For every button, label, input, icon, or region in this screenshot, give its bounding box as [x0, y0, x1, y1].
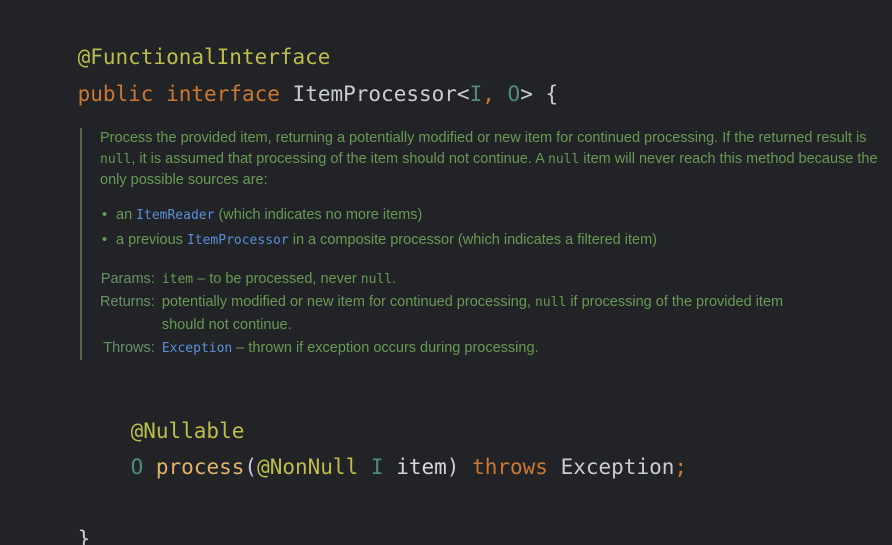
param-text-before-null: to be processed, never [209, 271, 361, 287]
type-name-itemprocessor[interactable]: ItemProcessor [293, 82, 457, 106]
angle-bracket-close-icon: > [520, 82, 533, 106]
space-3 [495, 82, 508, 106]
null-literal-2: null [548, 152, 579, 167]
method-name-process[interactable]: process [156, 455, 245, 479]
space-1 [143, 455, 156, 479]
method-signature-line: O process(@NonNull I item) throws Except… [80, 428, 687, 506]
tag-label-params: Params: [100, 268, 162, 291]
exception-type[interactable]: Exception [561, 455, 675, 479]
tag-value-returns: potentially modified or new item for con… [162, 291, 822, 337]
source-suffix: in a composite processor (which indicate… [289, 232, 657, 248]
param-text-after-null: . [392, 271, 396, 287]
list-item: •a previous ItemProcessor in a composite… [100, 230, 880, 252]
returns-text-before-null: potentially modified or new item for con… [162, 294, 535, 310]
list-item: •an ItemReader (which indicates no more … [100, 205, 880, 227]
throws-text: thrown if exception occurs during proces… [248, 340, 538, 356]
type-parameter-out: O [508, 82, 521, 106]
source-suffix: (which indicates no more items) [214, 207, 422, 223]
paren-open: ( [244, 455, 257, 479]
annotation-nonnull: @NonNull [257, 455, 358, 479]
type-parameter-in: I [470, 82, 483, 106]
table-row: Returns: potentially modified or new ite… [100, 291, 822, 337]
description-part-1: Process the provided item, returning a p… [100, 130, 866, 146]
parameter-name: item [396, 455, 447, 479]
javadoc-link-exception[interactable]: Exception [162, 341, 232, 356]
param-name: item [162, 272, 193, 287]
tag-label-returns: Returns: [100, 291, 162, 337]
javadoc-link-itemreader[interactable]: ItemReader [136, 208, 214, 223]
tag-label-throws: Throws: [100, 337, 162, 360]
returns-null-literal: null [535, 295, 566, 310]
description-part-2: , it is assumed that processing of the i… [131, 151, 548, 167]
space-2 [280, 82, 293, 106]
javadoc-tooltip: Process the provided item, returning a p… [80, 128, 880, 360]
brace-open: { [546, 82, 559, 106]
table-row: Throws: Exception – thrown if exception … [100, 337, 822, 360]
tag-value-params: item – to be processed, never null. [162, 268, 822, 291]
paren-close: ) [447, 455, 460, 479]
tag-value-throws: Exception – thrown if exception occurs d… [162, 337, 822, 360]
javadoc-sources-list: •an ItemReader (which indicates no more … [100, 205, 880, 252]
interface-declaration-line: public interface ItemProcessor<I, O> { [27, 55, 558, 133]
throws-dash: – [232, 340, 248, 356]
keyword-interface: interface [166, 82, 280, 106]
null-literal-1: null [100, 152, 131, 167]
method-return-type: O [131, 455, 144, 479]
comma-separator: , [482, 82, 495, 106]
space-4 [533, 82, 546, 106]
space-2 [358, 455, 371, 479]
param-dash: – [193, 271, 209, 287]
brace-close: } [78, 527, 91, 545]
table-row: Params: item – to be processed, never nu… [100, 268, 822, 291]
javadoc-link-itemprocessor[interactable]: ItemProcessor [187, 233, 289, 248]
space-5 [548, 455, 561, 479]
param-null-literal: null [361, 272, 392, 287]
code-editor-viewport: @FunctionalInterface public interface It… [0, 0, 892, 545]
space-4 [459, 455, 472, 479]
keyword-public: public [78, 82, 154, 106]
keyword-throws: throws [472, 455, 548, 479]
parameter-type: I [371, 455, 384, 479]
space-3 [384, 455, 397, 479]
source-prefix: an [116, 207, 136, 223]
source-prefix: a previous [116, 232, 187, 248]
javadoc-tags-table: Params: item – to be processed, never nu… [100, 268, 822, 360]
semicolon: ; [674, 455, 687, 479]
space-1 [153, 82, 166, 106]
closing-brace-line: } [27, 500, 90, 545]
bullet-icon: • [102, 230, 107, 251]
bullet-icon: • [102, 205, 107, 226]
angle-bracket-open-icon: < [457, 82, 470, 106]
javadoc-description: Process the provided item, returning a p… [100, 128, 880, 191]
